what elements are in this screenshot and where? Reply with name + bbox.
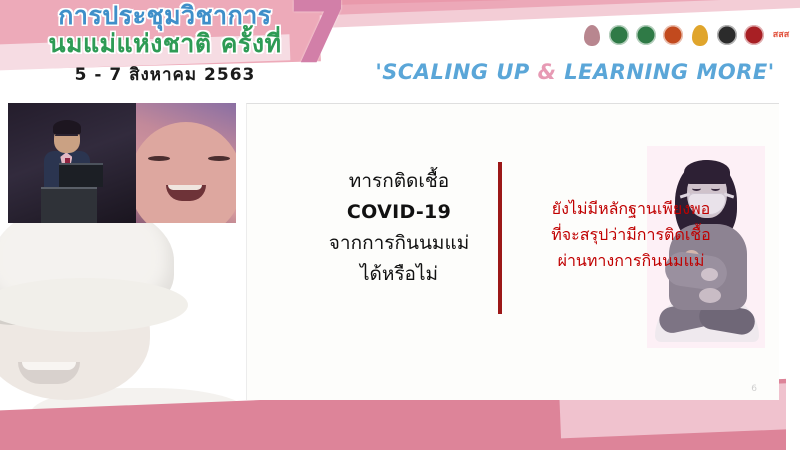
logo-royal-college-icon [662, 24, 684, 46]
video-projected-baby-photo [136, 103, 236, 223]
answer-line-2: ที่จะสรุปว่ามีการติดเชื้อ [507, 222, 755, 248]
video-speaker-glasses [55, 134, 78, 141]
logo-national-emblem-icon [689, 24, 711, 46]
background-child-teeth [22, 362, 76, 370]
tagline-part-1: 'SCALING UP [375, 60, 537, 84]
video-baby-eye-right [208, 156, 230, 161]
tagline-ampersand: & [538, 60, 557, 84]
logo-thaihealth-wordmark: สสส [773, 31, 789, 40]
video-baby-eye-left [148, 156, 170, 161]
video-podium [41, 187, 97, 223]
background-child-hat-brim [0, 278, 188, 332]
video-podium-laptop [59, 163, 103, 187]
video-stage-background [8, 103, 136, 223]
video-speaker-hair [53, 120, 81, 135]
slide-answer-text: ยังไม่มีหลักฐานเพียงพอ ที่จะสรุปว่ามีการ… [507, 196, 755, 274]
right-white-margin [786, 97, 800, 450]
logo-royal-institute-icon [743, 24, 765, 46]
presentation-slide: 7 การประชุมวิชาการ นมแม่แห่งชาติ ครั้งที… [0, 0, 800, 450]
answer-line-3: ผ่านทางการกินนมแม่ [507, 248, 755, 274]
logo-pediatric-society-icon [716, 24, 738, 46]
illustration-eye-left [692, 186, 701, 191]
answer-line-1: ยังไม่มีหลักฐานเพียงพอ [507, 196, 755, 222]
slide-number: 6 [751, 384, 757, 394]
slide-question-text: ทารกติดเชื้อ COVID-19 จากการกินนมแม่ ได้… [299, 166, 499, 290]
question-line-2: COVID-19 [299, 197, 499, 228]
sponsor-logo-strip: สสส [581, 24, 792, 46]
question-line-3: จากการกินนมแม่ [299, 228, 499, 259]
question-answer-divider [498, 162, 502, 314]
illustration-hand-on-lap [699, 288, 721, 303]
conference-edition-number: 7 [288, 0, 348, 76]
conference-title-group: การประชุมวิชาการ นมแม่แห่งชาติ ครั้งที่ … [20, 2, 310, 88]
illustration-hair-front [684, 160, 730, 184]
logo-breastfeeding-foundation-icon [581, 24, 603, 46]
logo-department-of-health-icon [635, 24, 657, 46]
slide-content-panel: ทารกติดเชื้อ COVID-19 จากการกินนมแม่ ได้… [246, 103, 779, 400]
illustration-eye-right [711, 186, 720, 191]
conference-title-line-1: การประชุมวิชาการ [20, 2, 310, 30]
live-speaker-video-feed[interactable] [8, 103, 236, 223]
video-baby-face [136, 122, 236, 223]
video-baby-teeth [168, 185, 202, 190]
background-child-photo [0, 212, 252, 427]
question-line-4: ได้หรือไม่ [299, 259, 499, 290]
question-line-1: ทารกติดเชื้อ [299, 166, 499, 197]
conference-tagline: 'SCALING UP & LEARNING MORE' [360, 60, 790, 84]
conference-header-banner: 7 การประชุมวิชาการ นมแม่แห่งชาติ ครั้งที… [0, 0, 800, 97]
tagline-part-2: LEARNING MORE' [556, 60, 774, 84]
conference-date: 5 - 7 สิงหาคม 2563 [20, 61, 310, 88]
logo-thaihealth-sso-icon: สสส [770, 24, 792, 46]
logo-ministry-of-public-health-icon [608, 24, 630, 46]
conference-title-line-2: นมแม่แห่งชาติ ครั้งที่ [20, 30, 310, 58]
